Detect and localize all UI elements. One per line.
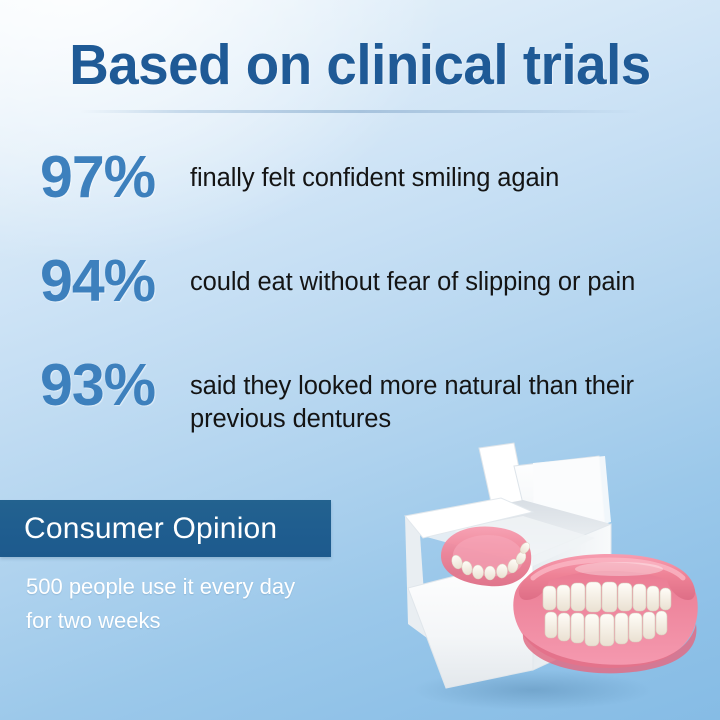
stat-description: said they looked more natural than their… [190, 350, 720, 436]
title-divider [80, 110, 640, 113]
stat-percentage: 93% [0, 350, 190, 420]
consumer-opinion-banner: Consumer Opinion [0, 500, 331, 557]
upper-teeth-row [543, 582, 671, 612]
denture-box-illustration [383, 438, 720, 720]
product-photo [383, 438, 720, 720]
stat-row: 94% could eat without fear of slipping o… [0, 246, 720, 350]
stat-description: could eat without fear of slipping or pa… [190, 246, 720, 299]
denture-specular [575, 562, 663, 576]
stat-description: finally felt confident smiling again [190, 142, 720, 195]
infographic-poster: Based on clinical trials 97% finally fel… [0, 0, 720, 720]
consumer-opinion-label: Consumer Opinion [24, 511, 277, 547]
page-title: Based on clinical trials [14, 32, 705, 98]
full-denture-set [513, 554, 697, 673]
stat-row: 97% finally felt confident smiling again [0, 142, 720, 246]
consumer-opinion-note: 500 people use it every day for two week… [26, 570, 356, 638]
stat-percentage: 94% [0, 246, 190, 316]
stat-percentage: 97% [0, 142, 190, 212]
note-line-1: 500 people use it every day [26, 570, 356, 604]
statistics-list: 97% finally felt confident smiling again… [0, 142, 720, 454]
note-line-2: for two weeks [26, 604, 356, 638]
